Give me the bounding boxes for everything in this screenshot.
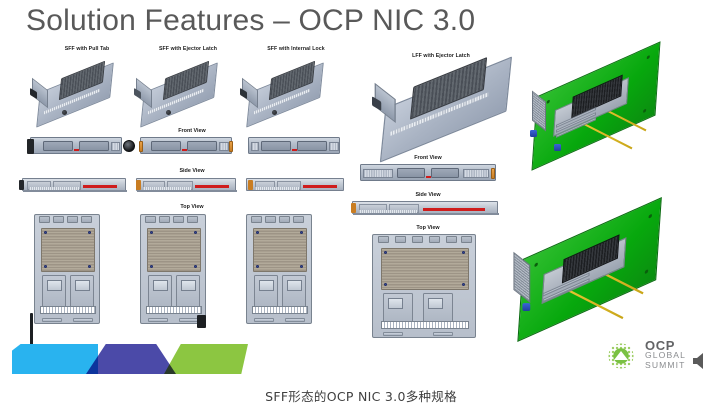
label-sff-side-view: Side View — [162, 168, 222, 174]
label-lff-side-view: Side View — [398, 192, 458, 198]
ocp-wordmark: OCP GLOBAL SUMMIT — [645, 340, 686, 370]
label-sff-top-view: Top View — [162, 204, 222, 210]
sff-top-view-internal-lock — [246, 214, 312, 324]
slide-canvas: Solution Features – OCP NIC 3.0 SFF with… — [0, 0, 722, 409]
iso-render-sff-internal-lock — [240, 62, 336, 118]
iso-render-sff-ejector-latch — [134, 62, 230, 118]
sff-side-view-pull-tab — [22, 178, 126, 191]
sff-top-view-ejector-latch — [140, 214, 206, 324]
cyan-band — [12, 344, 98, 374]
iso-render-sff-pull-tab — [30, 62, 126, 118]
purple-band — [86, 344, 176, 374]
label-lff-top-view: Top View — [398, 225, 458, 231]
sff-front-view-internal-lock — [248, 137, 340, 154]
pcb-assembly-upper — [516, 60, 716, 168]
label-lff-ejector-latch: LFF with Ejector Latch — [395, 53, 487, 59]
sff-side-view-ejector-latch — [136, 178, 236, 191]
lff-front-view — [360, 164, 496, 181]
lff-top-view — [372, 234, 476, 338]
label-sff-internal-lock: SFF with Internal Lock — [248, 46, 344, 52]
green-band — [164, 344, 248, 374]
label-sff-pull-tab: SFF with Pull Tab — [42, 46, 132, 52]
label-sff-ejector-latch: SFF with Ejector Latch — [140, 46, 236, 52]
speaker-icon — [690, 352, 710, 370]
sff-top-view-pull-tab — [34, 214, 100, 324]
slide-caption: SFF形态的OCP NIC 3.0多种规格 — [0, 386, 722, 405]
sff-side-view-internal-lock — [246, 178, 344, 191]
pcb-assembly-lower — [500, 218, 722, 350]
sff-front-view-pull-tab — [30, 137, 122, 154]
sff-front-view-ejector-latch — [140, 137, 232, 154]
page-title: Solution Features – OCP NIC 3.0 — [26, 4, 475, 38]
label-lff-front-view: Front View — [398, 155, 458, 161]
logo-line-summit: SUMMIT — [645, 361, 686, 371]
ocp-mountain-icon — [614, 351, 628, 360]
label-sff-front-view: Front View — [162, 128, 222, 134]
decorative-color-bands — [0, 344, 260, 374]
lff-side-view — [352, 201, 498, 214]
